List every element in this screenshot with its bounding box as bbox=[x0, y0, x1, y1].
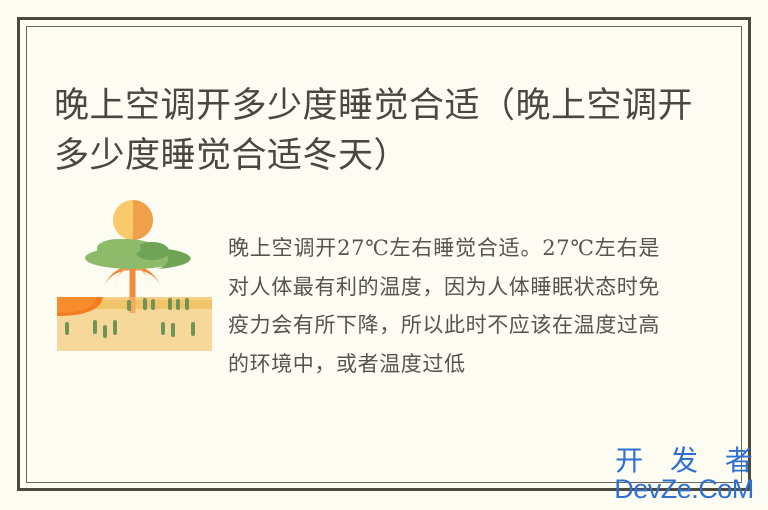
sun-icon bbox=[113, 200, 153, 240]
watermark-en-text: DevZe.CoM bbox=[600, 475, 768, 504]
page-title: 晚上空调开多少度睡觉合适（晚上空调开多少度睡觉合适冬天） bbox=[54, 81, 694, 181]
watermark-cn-text: 开 发 者 bbox=[600, 446, 768, 476]
article-body-text: 晚上空调开27℃左右睡觉合适。27℃左右是对人体最有利的温度，因为人体睡眠状态时… bbox=[228, 229, 660, 383]
ground-illustration bbox=[57, 297, 212, 351]
site-watermark: 开 发 者 DevZe.CoM bbox=[600, 446, 768, 506]
savanna-sun-acacia-illustration bbox=[57, 196, 212, 356]
article-page: 晚上空调开多少度睡觉合适（晚上空调开多少度睡觉合适冬天） bbox=[0, 0, 768, 510]
